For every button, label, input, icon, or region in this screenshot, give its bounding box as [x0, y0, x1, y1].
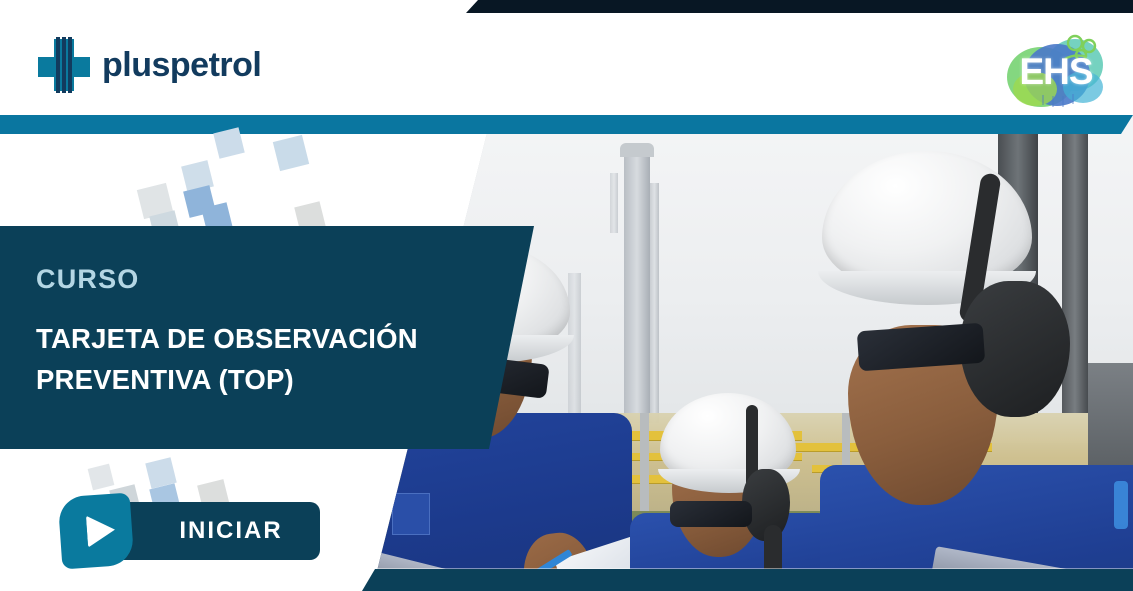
pluspetrol-logo[interactable]: pluspetrol	[36, 37, 266, 93]
worker-right-blue-tab	[1114, 481, 1128, 529]
start-button-pill[interactable]: INICIAR	[108, 502, 320, 560]
top-accent-bar	[0, 0, 1133, 13]
start-button-label: INICIAR	[145, 517, 282, 545]
decor-square	[273, 135, 309, 171]
photo-tower-cap	[620, 143, 654, 157]
worker-center-glasses	[670, 501, 752, 527]
photo-gray-pipe	[640, 413, 649, 511]
header: pluspetrol	[0, 13, 1133, 115]
worker-left-logo-patch	[392, 493, 430, 535]
pluspetrol-cross-icon	[36, 37, 92, 93]
ehs-label: EHS	[1001, 29, 1111, 115]
start-button[interactable]: INICIAR	[60, 495, 320, 567]
course-cover-slide: pluspetrol	[0, 0, 1133, 591]
teal-divider-bar	[0, 115, 1133, 134]
play-triangle	[86, 514, 116, 548]
page-title: TARJETA DE OBSERVACIÓN PREVENTIVA (TOP)	[36, 318, 506, 400]
photo-tower-stair	[650, 183, 659, 423]
decor-square	[88, 464, 115, 491]
course-eyebrow: CURSO	[36, 264, 140, 295]
play-icon[interactable]	[58, 493, 135, 570]
ehs-logo[interactable]: EHS	[1001, 29, 1111, 115]
bottom-accent-bar	[0, 569, 1133, 591]
photo-distillation-tower	[624, 155, 650, 423]
photo-secondary-tower	[568, 273, 581, 423]
photo-tower-vent	[610, 173, 618, 233]
pluspetrol-wordmark: pluspetrol	[102, 46, 261, 84]
